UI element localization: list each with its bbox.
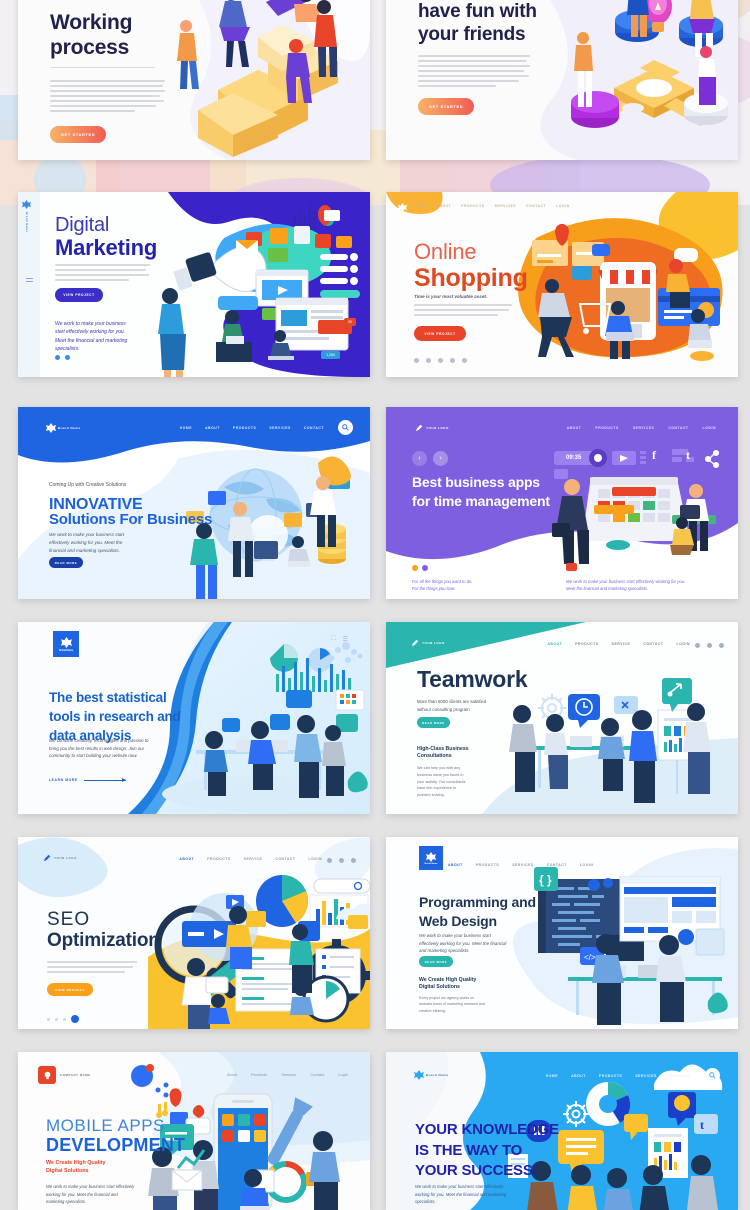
nav-item-contact[interactable]: CONTACT (304, 426, 324, 430)
learn-more-label: LEARN MORE (49, 778, 78, 782)
card-online-shopping[interactable]: HOME ABOUT PRODUCTS SERVICES CONTACT LOG… (386, 192, 738, 377)
nav-item-about[interactable]: ABOUT (567, 426, 582, 430)
logo-label: COMPANY NAME (60, 1073, 91, 1077)
brand-mark-icon (414, 1070, 423, 1079)
pen-icon (414, 423, 423, 432)
nav-item-home[interactable]: HOME (180, 426, 192, 430)
nav-item-services[interactable]: SERVICES (495, 204, 517, 208)
nav-item-home[interactable]: HOME (414, 204, 426, 208)
card-title-light: Digital (55, 214, 109, 236)
phone-icon (339, 858, 344, 863)
title-divider (50, 67, 155, 68)
nav-item-about[interactable]: ABOUT (448, 863, 463, 867)
clock-time: 09:35 (566, 455, 581, 461)
nav-item-products[interactable]: PRODUCTS (461, 204, 484, 208)
nav-item-about[interactable]: ABOUT (436, 204, 451, 208)
carousel-controls[interactable]: ‹ › (412, 451, 448, 466)
next-arrow-icon[interactable]: › (433, 451, 448, 466)
nav-item-about[interactable]: ABOUT (179, 857, 194, 861)
pen-icon (410, 638, 419, 647)
logo-label: YOUR LOGO (426, 426, 449, 430)
brand-mark-icon (61, 637, 72, 648)
nav-item-contact[interactable]: CONTACT (668, 426, 688, 430)
brand-logo[interactable]: Brand Name (53, 631, 79, 657)
nav-item-products[interactable]: Products (251, 1072, 267, 1077)
view-project-button[interactable]: VIEW PROJECT (414, 326, 466, 341)
expand-icon[interactable]: ⛶ (331, 636, 335, 643)
card-title: Teamwork (417, 667, 527, 693)
nav-item-services[interactable]: SERVICES (635, 1074, 657, 1078)
nav-item-login[interactable]: LOGIN (703, 426, 717, 430)
main-nav[interactable]: ABOUT PRODUCTS SERVICES CONTACT LOGIN (567, 426, 716, 430)
main-nav[interactable]: ABOUT PRODUCTS SERVICE CONTACT LOGIN (547, 642, 690, 646)
nav-item-about[interactable]: ABOUT (571, 1074, 586, 1078)
nav-item-contact[interactable]: Contact (310, 1072, 324, 1077)
nav-item-contact[interactable]: CONTACT (526, 204, 546, 208)
card-statistical-tools[interactable]: Brand Name The best statistical tools in… (18, 622, 370, 814)
brand-mark-icon (46, 423, 55, 432)
card-title-bold: Shopping (414, 264, 528, 292)
learn-more-link[interactable]: LEARN MORE (49, 778, 126, 782)
likes-badge: 1,254 (321, 351, 340, 359)
tagline: We work to make your business start effe… (419, 932, 509, 955)
sub-heading: We Create High Quality Digital Solutions (419, 977, 481, 992)
card-programming-web-design[interactable]: { } </> (386, 837, 738, 1029)
nav-item-services[interactable]: Services (281, 1072, 296, 1077)
footer-dots-left[interactable] (412, 565, 428, 571)
carousel-dots[interactable] (47, 1015, 79, 1023)
footer-left-text: For all the things you want to do. For t… (412, 578, 512, 592)
card-title-bold: Optimization (47, 930, 160, 951)
card-your-knowledge[interactable]: t (386, 1052, 738, 1210)
menu-icon[interactable]: ☰ (343, 636, 348, 643)
gear-icon (719, 643, 724, 648)
main-nav[interactable]: ABOUT PRODUCTS SERVICE CONTACT LOGIN (179, 857, 322, 861)
header-icons[interactable] (327, 858, 356, 863)
main-nav[interactable]: HOME ABOUT PRODUCTS SERVICES CONTACT (546, 1074, 690, 1078)
card-business-apps[interactable]: f t (386, 407, 738, 599)
main-nav[interactable]: ABOUT PRODUCTS SERVICES CONTACT LOGIN (448, 863, 593, 867)
card-innovative-solutions[interactable]: Brand Name HOME ABOUT PRODUCTS SERVICES … (18, 407, 370, 599)
brand-logo[interactable]: YOUR LOGO (42, 853, 77, 862)
nav-item-login[interactable]: Login (338, 1072, 348, 1077)
gear-icon (351, 858, 356, 863)
nav-item-products[interactable]: PRODUCTS (233, 426, 256, 430)
card-title-bold: Marketing (55, 236, 157, 261)
logo-label: YOUR LOGO (422, 641, 445, 645)
body-copy (418, 55, 530, 90)
card-title: Best business apps for time management (412, 473, 572, 511)
sub-text: Every project our agency works on includ… (419, 995, 487, 1014)
view-project-button[interactable]: VIEW PROJECT (55, 288, 103, 302)
read-more-button[interactable]: READ MORE (417, 717, 450, 728)
globe-icon (695, 643, 700, 648)
svg-text:</>: </> (584, 953, 596, 962)
social-dots[interactable] (55, 355, 70, 360)
tagline: Time is your most valuable asset. (414, 294, 487, 301)
nav-item-service[interactable]: SERVICE (244, 857, 263, 861)
body-copy (55, 264, 150, 284)
footer-right-text: We work to make your business start effe… (566, 578, 706, 592)
brand-logo[interactable]: Brand Name (46, 423, 81, 432)
brand-logo[interactable]: YOUR LOGO (410, 638, 445, 647)
card-title: Working process (50, 11, 200, 61)
contact-icons[interactable] (414, 358, 467, 363)
brand-logo[interactable]: YOUR LOGO (414, 423, 449, 432)
nav-item-services[interactable]: SERVICES (633, 426, 655, 430)
brand-name: Brand Name (58, 426, 81, 430)
brand-logo[interactable] (398, 203, 407, 212)
nav-item-products[interactable]: PRODUCTS (595, 426, 618, 430)
arrow-right-icon (84, 780, 126, 781)
eyebrow: Coming Up with Creative Solutions (49, 482, 126, 490)
body-copy (50, 80, 165, 115)
card-teamwork[interactable]: YOUR LOGO ABOUT PRODUCTS SERVICE CONTACT… (386, 622, 738, 814)
view-project-button[interactable]: VIEW PROJECT (47, 983, 93, 996)
menu-icon[interactable] (26, 278, 33, 282)
nav-item-home[interactable]: HOME (546, 1074, 558, 1078)
card-mobile-apps-development[interactable]: COMPANY NAME About Products Services Con… (18, 1052, 370, 1210)
get-started-button[interactable]: GET STARTED (418, 98, 474, 115)
read-more-button[interactable]: READ MORE (49, 557, 83, 568)
tagline: We work to make your business start effe… (49, 531, 137, 554)
brand-logo[interactable]: Brand Name (414, 1070, 449, 1079)
header-icons[interactable] (695, 643, 724, 648)
sub-heading: High-Class Business Consultations (417, 746, 475, 761)
brand-name: Brand Name (59, 649, 73, 652)
nav-item-login[interactable]: LOGIN (677, 642, 691, 646)
card-title-light: Online (414, 240, 476, 265)
nav-item-service[interactable]: SERVICE (612, 642, 631, 646)
get-started-button[interactable]: GET STARTED (50, 126, 106, 143)
nav-item-contact[interactable]: CONTACT (670, 1074, 690, 1078)
brand-mark-icon (22, 200, 31, 209)
phone-icon (707, 643, 712, 648)
nav-item-products[interactable]: PRODUCTS (599, 1074, 622, 1078)
nav-item-about[interactable]: About (227, 1072, 237, 1077)
nav-item-contact[interactable]: CONTACT (275, 857, 295, 861)
card-seo-optimization[interactable]: YOUR LOGO ABOUT PRODUCTS SERVICE CONTACT… (18, 837, 370, 1029)
nav-item-products[interactable]: PRODUCTS (476, 863, 499, 867)
body-copy (414, 304, 512, 319)
card-title: YOUR KNOWLEDGE IS THE WAY TO YOUR SUCCES… (415, 1120, 565, 1182)
card-title-light: MOBILE APPS (46, 1116, 165, 1135)
notification-badge: 56 (344, 318, 356, 326)
tagline: We work to make your business start effe… (46, 1183, 136, 1206)
brand-mark-icon (426, 852, 436, 862)
brand-name: Brand Name (25, 212, 28, 232)
main-nav[interactable]: HOME ABOUT PRODUCTS SERVICES CONTACT (180, 426, 324, 430)
pen-icon (42, 853, 51, 862)
main-nav[interactable]: About Products Services Contact Login (227, 1072, 348, 1077)
brand-logo[interactable]: Brand Name (419, 846, 443, 870)
play-icon[interactable] (566, 563, 577, 571)
nav-item-about[interactable]: ABOUT (205, 426, 220, 430)
logo-label: YOUR LOGO (54, 856, 77, 860)
nav-item-services[interactable]: SERVICES (269, 426, 291, 430)
nav-item-contact[interactable]: CONTACT (547, 863, 567, 867)
svg-text:t: t (700, 1118, 704, 1132)
nav-item-login[interactable]: LOGIN (309, 857, 323, 861)
card-title-light: SEO (47, 909, 90, 930)
main-nav[interactable]: HOME ABOUT PRODUCTS SERVICES CONTACT LOG… (414, 204, 570, 208)
svg-text:{ }: { } (539, 873, 552, 887)
tagline: We work to make your business start effe… (55, 320, 135, 353)
tagline: More than 5000 clients are satisfied wit… (417, 698, 492, 713)
read-more-button[interactable]: READ MORE (419, 956, 453, 967)
globe-icon (327, 858, 332, 863)
card-title: Programming and Web Design (419, 893, 559, 931)
window-controls[interactable]: ⛶ ☰ (331, 636, 348, 643)
bulb-icon (38, 1066, 56, 1084)
nav-item-login[interactable]: LOGIN (580, 863, 594, 867)
card-title-bold: DEVELOPMENT (46, 1135, 185, 1155)
search-icon[interactable] (338, 420, 353, 435)
brand-logo[interactable]: Brand Name (22, 200, 31, 232)
nav-item-contact[interactable]: CONTACT (643, 642, 663, 646)
tagline: We work to make your business start effe… (415, 1183, 507, 1206)
search-icon[interactable] (705, 1068, 720, 1083)
card-digital-marketing[interactable]: Brand Name Digital Marketing VIEW PROJEC… (18, 192, 370, 377)
tagline: We combine creativity, technologies and … (49, 737, 159, 760)
sub-heading: We Create High Quality Digital Solutions (46, 1160, 118, 1176)
card-share-ideas[interactable]: Share ideas and have fun with your frien… (386, 0, 738, 160)
card-title: Share ideas and have fun with your frien… (418, 0, 603, 46)
svg-text:t: t (686, 448, 690, 462)
nav-item-about[interactable]: ABOUT (547, 642, 562, 646)
body-copy (47, 961, 137, 976)
prev-arrow-icon[interactable]: ‹ (412, 451, 427, 466)
template-gallery: Working process GET STARTED (0, 0, 750, 1190)
card-title-light: Solutions For Business (49, 512, 212, 529)
brand-mark-icon (398, 203, 407, 212)
nav-item-products[interactable]: PRODUCTS (207, 857, 230, 861)
brand-name: Brand Name (425, 863, 438, 865)
brand-name: Brand Name (426, 1073, 449, 1077)
brand-logo[interactable]: COMPANY NAME (38, 1066, 91, 1084)
nav-item-login[interactable]: LOGIN (556, 204, 570, 208)
nav-item-services[interactable]: SERVICES (512, 863, 534, 867)
card-working-process[interactable]: Working process GET STARTED (18, 0, 370, 160)
nav-item-products[interactable]: PRODUCTS (575, 642, 598, 646)
sub-text: We can help you with any business issue … (417, 765, 469, 799)
